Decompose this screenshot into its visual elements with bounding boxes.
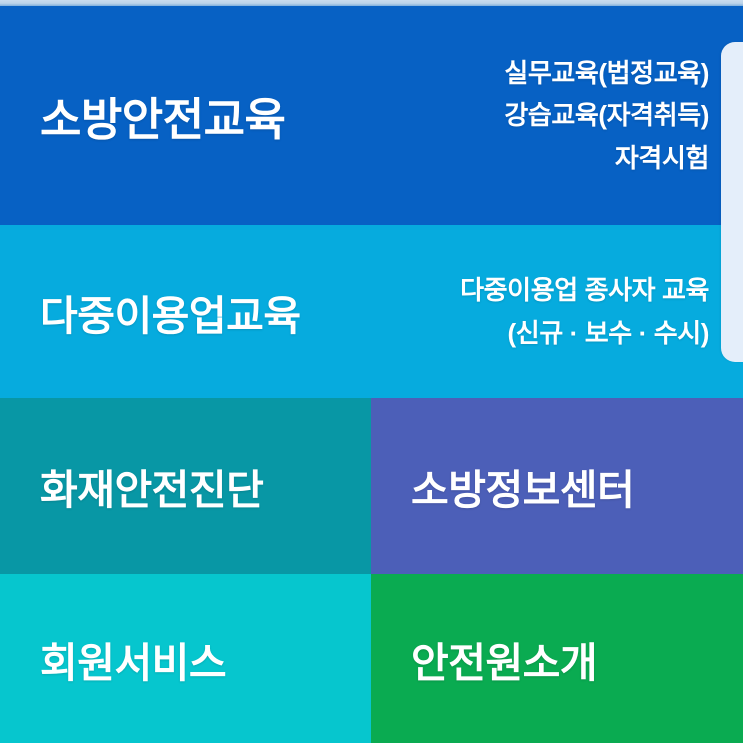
tile-title-fire-information-center: 소방정보센터: [411, 456, 634, 516]
description-line: (신규 · 보수 · 수시): [460, 312, 709, 354]
description-line: 자격시험: [504, 137, 709, 179]
menu-tile-multiuse-business-education[interactable]: 다중이용업교육 다중이용업 종사자 교육 (신규 · 보수 · 수시): [0, 225, 743, 398]
menu-tile-fire-information-center[interactable]: 소방정보센터: [371, 398, 743, 574]
menu-tile-fire-safety-education[interactable]: 소방안전교육 실무교육(법정교육) 강습교육(자격취득) 자격시험: [0, 6, 743, 225]
tile-title-fire-safety-diagnosis: 화재안전진단: [40, 456, 263, 516]
menu-tile-about-institute[interactable]: 안전원소개: [371, 574, 743, 743]
tile-description-fire-safety-education: 실무교육(법정교육) 강습교육(자격취득) 자격시험: [504, 52, 709, 178]
tile-title-member-service: 회원서비스: [40, 629, 226, 689]
tile-title-about-institute: 안전원소개: [411, 629, 597, 689]
vertical-scrollbar-track[interactable]: [721, 6, 743, 743]
description-line: 실무교육(법정교육): [504, 52, 709, 94]
menu-tile-member-service[interactable]: 회원서비스: [0, 574, 371, 743]
menu-tile-fire-safety-diagnosis[interactable]: 화재안전진단: [0, 398, 371, 574]
mobile-menu-screen: 소방안전교육 실무교육(법정교육) 강습교육(자격취득) 자격시험 다중이용업교…: [0, 0, 743, 743]
tile-description-multiuse-business-education: 다중이용업 종사자 교육 (신규 · 보수 · 수시): [460, 269, 709, 353]
vertical-scrollbar-thumb[interactable]: [721, 42, 743, 362]
tile-title-fire-safety-education: 소방안전교육: [40, 83, 285, 148]
description-line: 다중이용업 종사자 교육: [460, 269, 709, 311]
tile-title-multiuse-business-education: 다중이용업교육: [40, 282, 301, 342]
description-line: 강습교육(자격취득): [504, 94, 709, 136]
